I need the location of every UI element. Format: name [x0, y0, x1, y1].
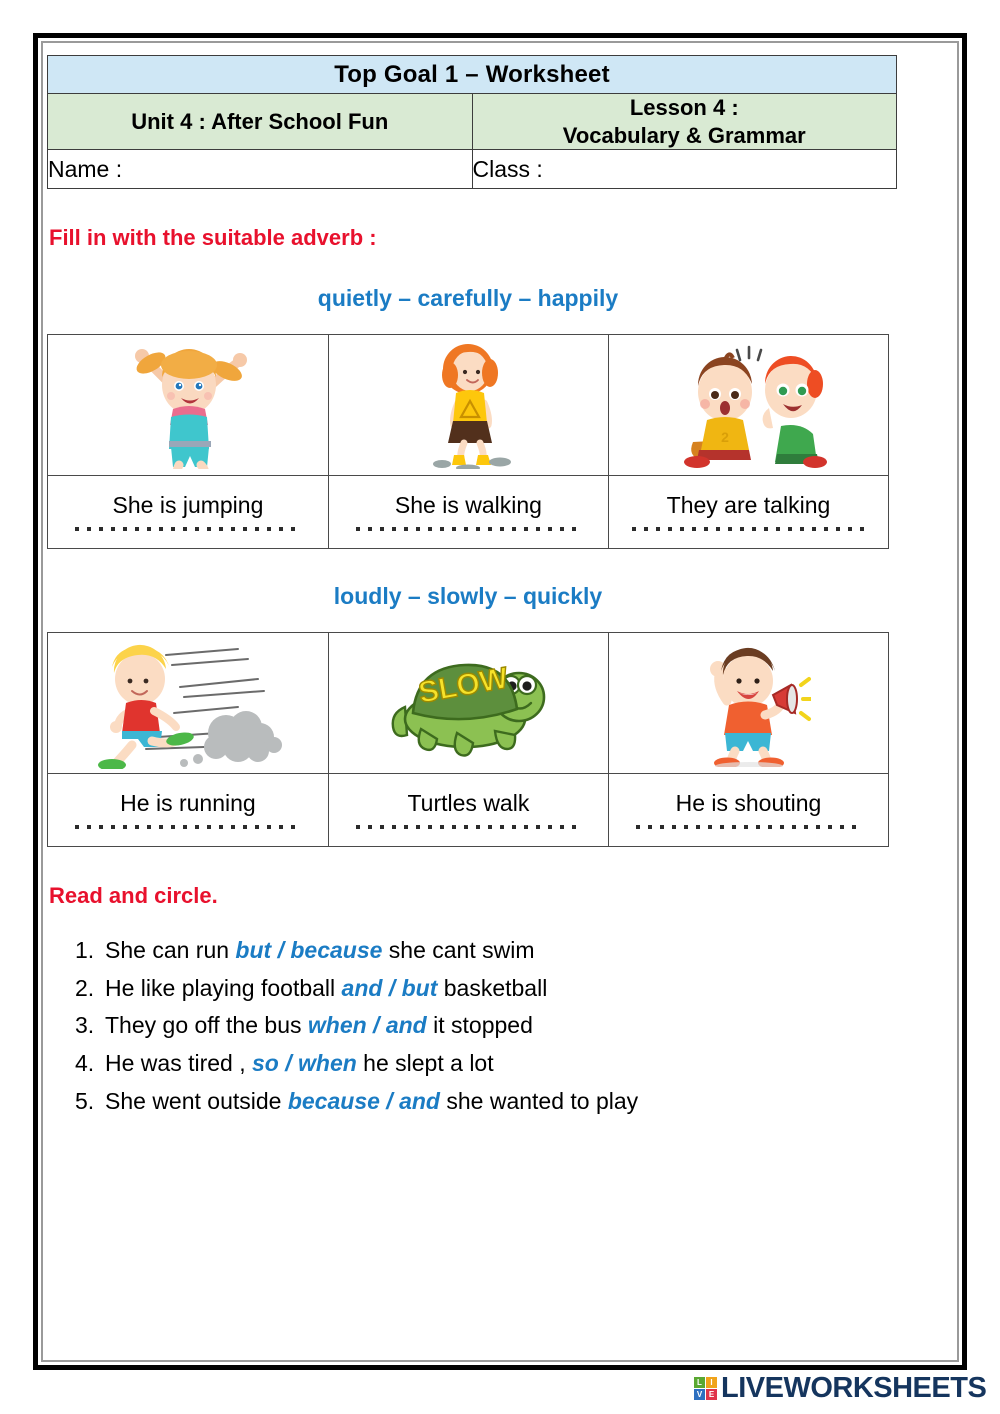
- caption-cell-boys-talking: They are talking: [608, 476, 888, 549]
- item-number: 2.: [75, 973, 105, 1005]
- girl-walking-icon: [412, 341, 524, 469]
- girl-jumping-icon: [123, 341, 253, 469]
- list-item: 5.She went outside because / and she wan…: [47, 1086, 897, 1118]
- answer-blank-line[interactable]: [356, 527, 581, 531]
- caption-cell-turtle-slow: Turtles walk: [328, 774, 608, 847]
- choice-pair[interactable]: because / and: [288, 1088, 440, 1114]
- item-number: 1.: [75, 935, 105, 967]
- list-item: 4.He was tired , so / when he slept a lo…: [47, 1048, 897, 1080]
- caption-text: She is jumping: [48, 493, 328, 517]
- list-item: 1.She can run but / because she cant swi…: [47, 935, 897, 967]
- section2-instruction: Read and circle.: [49, 883, 897, 909]
- caption-row-1: She is jumping She is walking They are t…: [48, 476, 889, 549]
- item-number: 5.: [75, 1086, 105, 1118]
- caption-text: Turtles walk: [329, 791, 608, 815]
- logo-tile-v: V: [694, 1389, 705, 1400]
- item-text-before: They go off the bus: [105, 1012, 308, 1038]
- picture-row-1: 2: [48, 335, 889, 476]
- item-text-after: she cant swim: [382, 937, 534, 963]
- header-title-row: Top Goal 1 – Worksheet: [48, 56, 897, 94]
- picture-table-2: SLOW: [47, 632, 889, 847]
- caption-cell-girl-jumping: She is jumping: [48, 476, 329, 549]
- item-text-before: She went outside: [105, 1088, 288, 1114]
- boys-talking-icon: 2: [663, 342, 833, 468]
- liveworksheets-logo[interactable]: L I V E LIVEWORKSHEETS: [694, 1374, 986, 1403]
- caption-text: They are talking: [609, 493, 888, 517]
- caption-cell-boy-shouting: He is shouting: [608, 774, 888, 847]
- item-number: 3.: [75, 1010, 105, 1042]
- choice-pair[interactable]: when / and: [308, 1012, 427, 1038]
- worksheet-header-table: Top Goal 1 – Worksheet Unit 4 : After Sc…: [47, 55, 897, 189]
- picture-row-2: SLOW: [48, 633, 889, 774]
- logo-wordmark: LIVEWORKSHEETS: [721, 1374, 986, 1403]
- boy-shouting-icon: [685, 639, 811, 767]
- turtle-slow-icon: SLOW: [379, 645, 557, 761]
- caption-cell-boy-running: He is running: [48, 774, 329, 847]
- worksheet-title: Top Goal 1 – Worksheet: [48, 56, 897, 94]
- unit-label: Unit 4 : After School Fun: [48, 94, 473, 150]
- caption-text: He is running: [48, 791, 328, 815]
- picture-cell-boy-running: [48, 633, 329, 774]
- header-unit-row: Unit 4 : After School Fun Lesson 4 : Voc…: [48, 94, 897, 150]
- caption-text: He is shouting: [609, 791, 888, 815]
- item-text-before: He like playing football: [105, 975, 342, 1001]
- lesson-line-1: Lesson 4 :: [473, 94, 897, 122]
- answer-blank-line[interactable]: [636, 825, 861, 829]
- item-text-after: it stopped: [427, 1012, 533, 1038]
- item-number: 4.: [75, 1048, 105, 1080]
- item-text-after: she wanted to play: [440, 1088, 638, 1114]
- picture-cell-boys-talking: 2: [608, 335, 888, 476]
- answer-blank-line[interactable]: [632, 527, 864, 531]
- picture-cell-turtle-slow: SLOW: [328, 633, 608, 774]
- lesson-label: Lesson 4 : Vocabulary & Grammar: [472, 94, 897, 150]
- section1-instruction: Fill in with the suitable adverb :: [49, 225, 897, 251]
- answer-blank-line[interactable]: [356, 825, 581, 829]
- boy-running-icon: [88, 637, 288, 769]
- caption-row-2: He is running Turtles walk He is shoutin…: [48, 774, 889, 847]
- word-bank-2: loudly – slowly – quickly: [39, 583, 897, 610]
- item-text-after: he slept a lot: [357, 1050, 494, 1076]
- choice-pair[interactable]: and / but: [342, 975, 438, 1001]
- caption-text: She is walking: [329, 493, 608, 517]
- list-item: 2.He like playing football and / but bas…: [47, 973, 897, 1005]
- logo-tile-i: I: [706, 1377, 717, 1388]
- logo-tile-l: L: [694, 1377, 705, 1388]
- read-and-circle-list: 1.She can run but / because she cant swi…: [47, 935, 897, 1118]
- item-text-before: He was tired ,: [105, 1050, 252, 1076]
- picture-cell-girl-jumping: [48, 335, 329, 476]
- picture-cell-girl-walking: [328, 335, 608, 476]
- class-field[interactable]: Class :: [472, 150, 897, 189]
- answer-blank-line[interactable]: [75, 825, 300, 829]
- header-name-row: Name : Class :: [48, 150, 897, 189]
- name-field[interactable]: Name :: [48, 150, 473, 189]
- lesson-line-2: Vocabulary & Grammar: [473, 122, 897, 150]
- item-text-before: She can run: [105, 937, 235, 963]
- answer-blank-line[interactable]: [75, 527, 300, 531]
- svg-text:2: 2: [722, 429, 730, 445]
- item-text-after: basketball: [437, 975, 547, 1001]
- picture-cell-boy-shouting: [608, 633, 888, 774]
- caption-cell-girl-walking: She is walking: [328, 476, 608, 549]
- word-bank-1: quietly – carefully – happily: [39, 285, 897, 312]
- choice-pair[interactable]: but / because: [235, 937, 382, 963]
- worksheet-body: Top Goal 1 – Worksheet Unit 4 : After Sc…: [47, 55, 897, 1124]
- logo-tile-e: E: [706, 1389, 717, 1400]
- logo-tiles-icon: L I V E: [694, 1377, 717, 1400]
- list-item: 3.They go off the bus when / and it stop…: [47, 1010, 897, 1042]
- picture-table-1: 2: [47, 334, 889, 549]
- choice-pair[interactable]: so / when: [252, 1050, 357, 1076]
